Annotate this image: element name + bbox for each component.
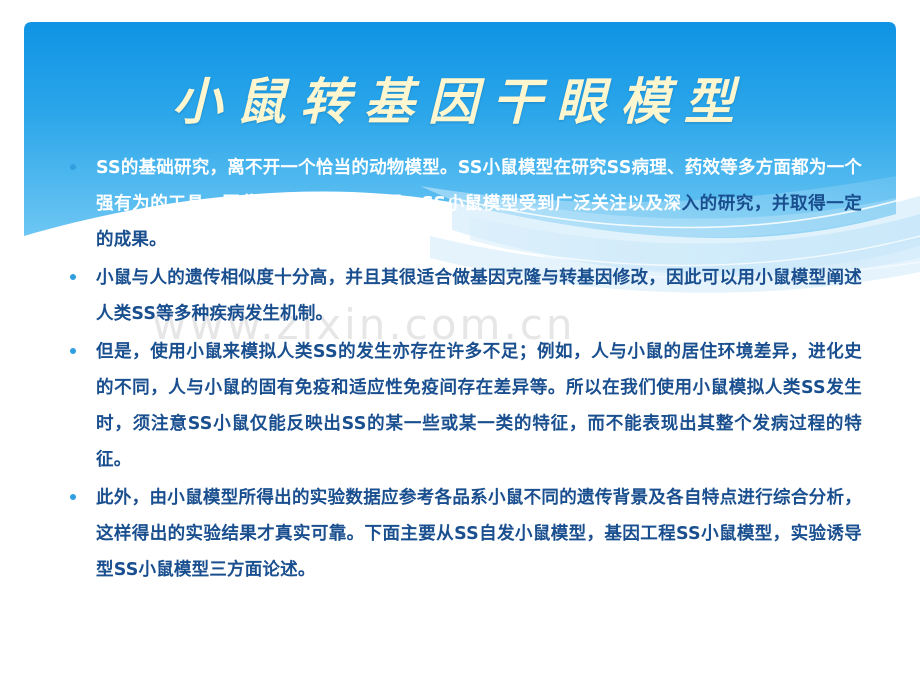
paragraph-text: SS的基础研究，离不开一个恰当的动物模型。SS小鼠模型在研究SS病理、药效等多方… bbox=[96, 150, 862, 258]
list-item: 小鼠与人的遗传相似度十分高，并且其很适合做基因克隆与转基因修改，因此可以用小鼠模… bbox=[62, 260, 862, 332]
paragraph-text: 但是，使用小鼠来模拟人类SS的发生亦存在许多不足；例如，人与小鼠的居住环境差异，… bbox=[96, 334, 862, 478]
presentation-slide: www.zixin.com.cn 小鼠转基因干眼模型 SS的基础研究，离不开一个… bbox=[0, 0, 920, 690]
slide-title: 小鼠转基因干眼模型 bbox=[24, 62, 896, 134]
paragraph-text: 此外，由小鼠模型所得出的实验数据应参考各品系小鼠不同的遗传背景及各自特点进行综合… bbox=[96, 480, 862, 588]
list-item: SS的基础研究，离不开一个恰当的动物模型。SS小鼠模型在研究SS病理、药效等多方… bbox=[62, 150, 862, 258]
list-item: 但是，使用小鼠来模拟人类SS的发生亦存在许多不足；例如，人与小鼠的居住环境差异，… bbox=[62, 334, 862, 478]
paragraph-text: 小鼠与人的遗传相似度十分高，并且其很适合做基因克隆与转基因修改，因此可以用小鼠模… bbox=[96, 260, 862, 332]
list-item: 此外，由小鼠模型所得出的实验数据应参考各品系小鼠不同的遗传背景及各自特点进行综合… bbox=[62, 480, 862, 588]
bullet-dot-icon bbox=[70, 348, 76, 354]
body-content: SS的基础研究，离不开一个恰当的动物模型。SS小鼠模型在研究SS病理、药效等多方… bbox=[62, 150, 862, 590]
bullet-dot-icon bbox=[70, 164, 76, 170]
bullet-dot-icon bbox=[70, 494, 76, 500]
bullet-dot-icon bbox=[70, 274, 76, 280]
